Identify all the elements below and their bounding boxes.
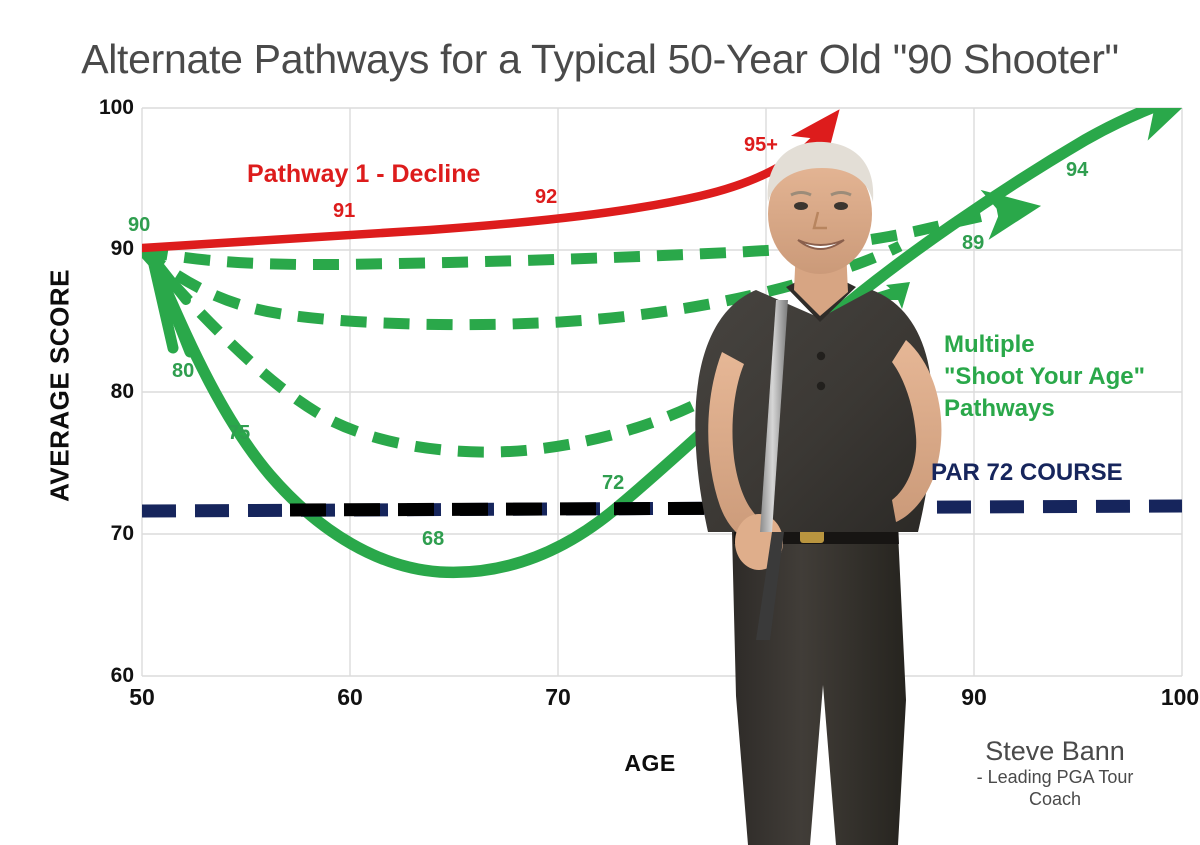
par-72-course-label: PAR 72 COURSE	[931, 459, 1123, 487]
data-label-90: 90	[128, 214, 150, 237]
data-label-95plus: 95+	[744, 134, 778, 157]
chart-canvas: Alternate Pathways for a Typical 50-Year…	[0, 0, 1200, 845]
data-label-94: 94	[1066, 159, 1088, 182]
attribution-role-line-2: Coach	[930, 789, 1180, 811]
photo-button-2	[817, 382, 825, 390]
data-label-75: 75	[228, 422, 250, 445]
multiple-line-1: Multiple	[944, 329, 1174, 361]
data-label-92: 92	[535, 186, 557, 209]
pathway-1-callout: Pathway 1 - Decline	[247, 160, 480, 189]
photo-eye-left	[794, 202, 808, 210]
photo-pants	[732, 532, 906, 845]
attribution: Steve Bann - Leading PGA Tour Coach	[930, 736, 1180, 810]
data-label-68: 68	[422, 528, 444, 551]
data-label-72: 72	[602, 472, 624, 495]
attribution-name: Steve Bann	[930, 736, 1180, 767]
multiple-pathways-callout: Multiple "Shoot Your Age" Pathways	[944, 329, 1174, 425]
data-label-91: 91	[333, 200, 355, 223]
photo-eye-right	[834, 202, 848, 210]
data-label-89: 89	[962, 232, 984, 255]
attribution-role-line-1: - Leading PGA Tour	[930, 767, 1180, 789]
multiple-line-2: "Shoot Your Age"	[944, 361, 1174, 393]
data-label-80: 80	[172, 360, 194, 383]
multiple-line-3: Pathways	[944, 393, 1174, 425]
photo-button-1	[817, 352, 825, 360]
